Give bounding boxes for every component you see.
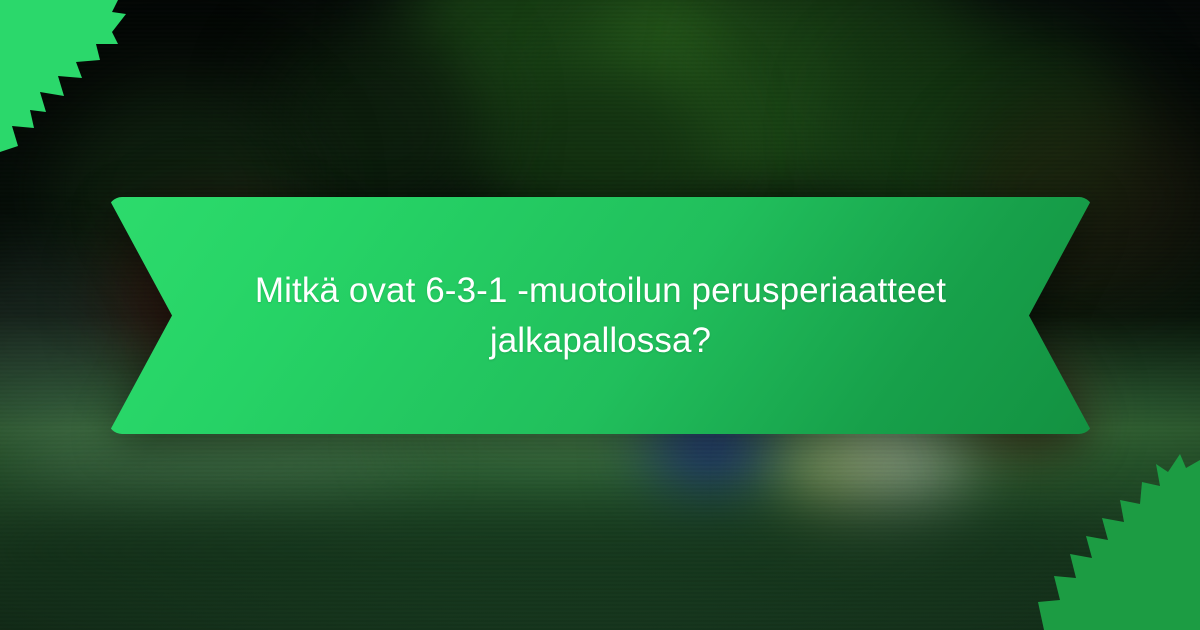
question-banner: Mitkä ovat 6-3-1 -muotoilun perusperiaat… <box>108 197 1093 434</box>
social-share-card: Mitkä ovat 6-3-1 -muotoilun perusperiaat… <box>0 0 1200 630</box>
question-text: Mitkä ovat 6-3-1 -muotoilun perusperiaat… <box>216 197 984 434</box>
